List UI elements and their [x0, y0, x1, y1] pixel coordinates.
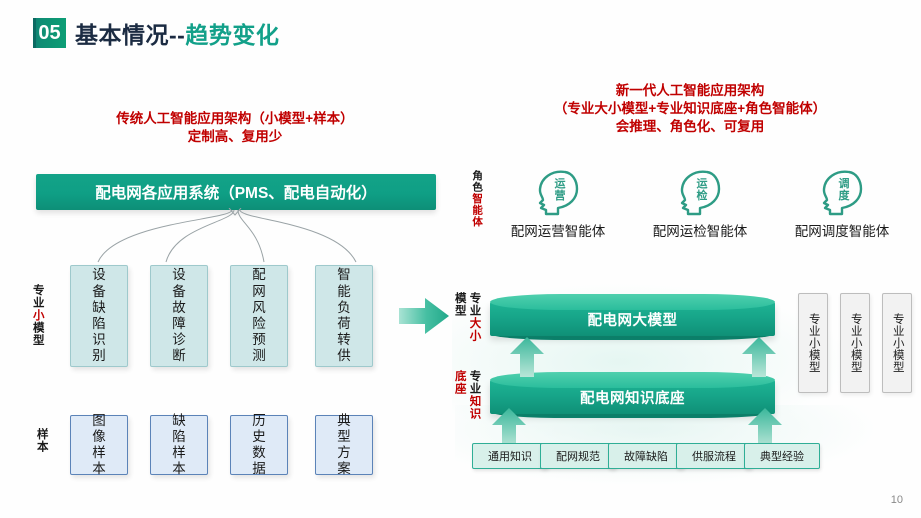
head-agent-icon: 运 营: [498, 168, 618, 218]
small-model-box[interactable]: 专业小模型: [798, 293, 828, 393]
sample-box[interactable]: 缺陷样本: [150, 415, 208, 475]
sample-box-label: 图像样本: [91, 413, 107, 478]
label-red-2: 底座: [454, 370, 466, 395]
label-red: 大小: [468, 317, 480, 342]
title-text: 基本情况--趋势变化: [75, 16, 279, 50]
knowledge-chip[interactable]: 典型经验: [744, 443, 820, 469]
label-red: 智能体: [471, 193, 483, 228]
agent-icon-text: 运: [555, 177, 566, 190]
knowledge-chip-label: 典型经验: [760, 448, 804, 464]
right-heading-line1: 新一代人工智能应用架构: [470, 82, 910, 100]
left-heading-line1: 传统人工智能应用架构（小模型+样本）: [55, 110, 415, 128]
svg-text:营: 营: [555, 188, 566, 202]
agent-card[interactable]: 调 度 配网调度智能体: [782, 168, 902, 240]
knowledge-chip-label: 配网规范: [556, 448, 600, 464]
right-heading-line2: （专业大小模型+专业知识底座+角色智能体）: [470, 100, 910, 118]
model-box-label: 设备缺陷识别: [91, 267, 107, 364]
section-number-badge: 05: [33, 18, 66, 48]
agent-card[interactable]: 运 检 配网运检智能体: [640, 168, 760, 240]
cylinder-knowledge-base-label: 配电网知识底座: [490, 372, 775, 418]
head-agent-icon: 调 度: [782, 168, 902, 218]
head-agent-icon: 运 检: [640, 168, 760, 218]
agent-name: 配网运检智能体: [640, 220, 760, 240]
right-arrow-icon: [399, 294, 449, 338]
model-box[interactable]: 设备缺陷识别: [70, 265, 128, 367]
svg-text:调: 调: [839, 176, 850, 190]
agent-card[interactable]: 运 营 配网运营智能体: [498, 168, 618, 240]
knowledge-chip[interactable]: 配网规范: [540, 443, 616, 469]
sample-box[interactable]: 图像样本: [70, 415, 128, 475]
small-model-box-label: 专业小模型: [890, 313, 904, 373]
label-red: 小: [32, 309, 44, 322]
right-heading-line3: 会推理、角色化、可复用: [470, 118, 910, 136]
small-model-box-label: 专业小模型: [848, 313, 862, 373]
label-red-1: 知识: [468, 395, 480, 420]
label-pre: 专业: [468, 292, 480, 317]
knowledge-chip-label: 通用知识: [488, 448, 532, 464]
agent-name: 配网运营智能体: [498, 220, 618, 240]
up-arrow-icon: [742, 337, 776, 377]
left-heading-line2: 定制高、复用少: [55, 128, 415, 146]
label-pre: 角色: [471, 170, 483, 193]
agent-name: 配网调度智能体: [782, 220, 902, 240]
left-heading: 传统人工智能应用架构（小模型+样本） 定制高、复用少: [55, 110, 415, 146]
label-sample: 样本: [34, 428, 49, 470]
small-model-box-label: 专业小模型: [806, 313, 820, 373]
svg-text:运: 运: [697, 177, 708, 190]
label-pre: 专业: [32, 284, 44, 309]
slide-canvas: 05 基本情况--趋势变化 传统人工智能应用架构（小模型+样本） 定制高、复用少…: [0, 0, 921, 518]
model-box[interactable]: 设备故障诊断: [150, 265, 208, 367]
sample-box[interactable]: 典型方案: [315, 415, 373, 475]
sample-box-label: 历史数据: [251, 413, 267, 478]
knowledge-chip[interactable]: 故障缺陷: [608, 443, 684, 469]
sample-box-label: 典型方案: [336, 413, 352, 478]
application-system-banner: 配电网各应用系统（PMS、配电自动化）: [36, 174, 436, 210]
knowledge-chip-label: 故障缺陷: [624, 448, 668, 464]
label-professional-big-small-model: 专业大小模型: [452, 292, 481, 352]
cylinder-knowledge-base[interactable]: 配电网知识底座: [490, 372, 775, 418]
knowledge-chip[interactable]: 通用知识: [472, 443, 548, 469]
label-role-agent: 角色智能体: [470, 170, 483, 246]
up-arrow-icon: [510, 337, 544, 377]
small-model-box[interactable]: 专业小模型: [882, 293, 912, 393]
connector-lines: [36, 208, 436, 270]
label-professional-small-model: 专业小模型: [30, 284, 45, 374]
title-accent-part: 趋势变化: [185, 22, 279, 48]
label-post: 模型: [454, 292, 466, 317]
sample-box-label: 缺陷样本: [171, 413, 187, 478]
label-pre: 专业: [468, 370, 480, 395]
model-box[interactable]: 配网风险预测: [230, 265, 288, 367]
model-box-label: 设备故障诊断: [171, 267, 187, 364]
model-box-label: 配网风险预测: [251, 267, 267, 364]
title-dark-part: 基本情况--: [75, 22, 185, 48]
page-number: 10: [891, 494, 903, 506]
model-box[interactable]: 智能负荷转供: [315, 265, 373, 367]
svg-text:度: 度: [839, 188, 851, 202]
right-heading: 新一代人工智能应用架构 （专业大小模型+专业知识底座+角色智能体） 会推理、角色…: [470, 82, 910, 137]
small-model-box[interactable]: 专业小模型: [840, 293, 870, 393]
cylinder-big-model-label: 配电网大模型: [490, 294, 775, 340]
knowledge-chip-label: 供服流程: [692, 448, 736, 464]
knowledge-chip[interactable]: 供服流程: [676, 443, 752, 469]
label-post: 模型: [32, 322, 44, 347]
label-professional-knowledge-base: 专业知识底座: [452, 370, 481, 430]
sample-box[interactable]: 历史数据: [230, 415, 288, 475]
model-box-label: 智能负荷转供: [336, 267, 352, 364]
page-title: 05 基本情况--趋势变化: [33, 16, 279, 50]
cylinder-big-model[interactable]: 配电网大模型: [490, 294, 775, 340]
svg-text:检: 检: [697, 188, 708, 202]
